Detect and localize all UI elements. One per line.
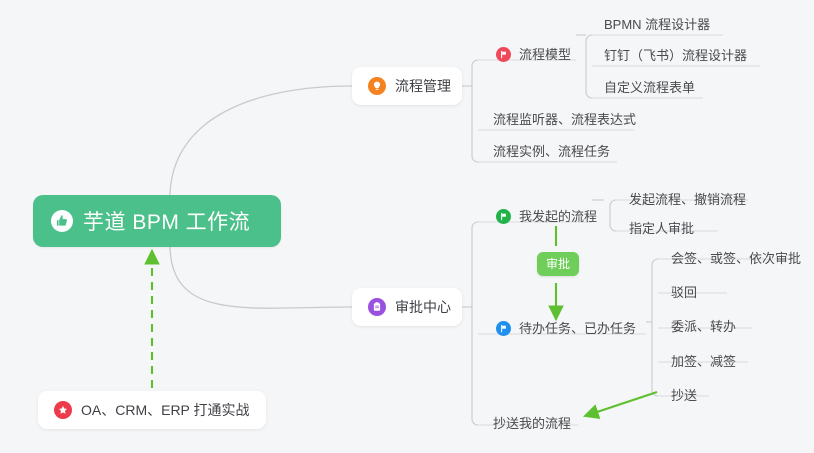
flag-blue-icon	[496, 321, 511, 336]
star-icon	[54, 401, 72, 419]
branch-node-process-management[interactable]: 流程管理	[352, 67, 462, 105]
connector-process-management-spine	[472, 60, 478, 162]
lightbulb-icon	[368, 77, 386, 95]
flag-red-icon	[496, 47, 511, 62]
topic-start-cancel-process[interactable]: 发起流程、撤销流程	[625, 185, 750, 213]
branch-label-approval-center: 审批中心	[395, 297, 451, 317]
floating-node-integration[interactable]: OA、CRM、ERP 打通实战	[38, 391, 266, 429]
flow-tag-approval[interactable]: 审批	[537, 252, 579, 276]
topic-label-carbon-copy: 抄送	[671, 389, 697, 402]
root-node[interactable]: 芋道 BPM 工作流	[33, 195, 281, 247]
topic-label-process-listener-expression: 流程监听器、流程表达式	[493, 113, 636, 126]
topic-label-delegate-transfer: 委派、转办	[671, 320, 736, 333]
topic-process-listener-expression[interactable]: 流程监听器、流程表达式	[489, 105, 640, 133]
topic-my-started-process[interactable]: 我发起的流程	[492, 202, 601, 230]
topic-todo-done-task[interactable]: 待办任务、已办任务	[492, 314, 640, 342]
topic-dingtalk-feishu-designer[interactable]: 钉钉（飞书）流程设计器	[600, 41, 751, 69]
mindmap-canvas: 芋道 BPM 工作流 流程管理 流程模型 BPMN 流程设计器 钉钉（飞书）流程…	[0, 0, 814, 453]
topic-label-reject: 驳回	[671, 286, 697, 299]
topic-add-remove-sign[interactable]: 加签、减签	[667, 347, 740, 375]
topic-process-instance-task[interactable]: 流程实例、流程任务	[489, 137, 614, 165]
topic-bpmn-designer[interactable]: BPMN 流程设计器	[600, 10, 714, 38]
connector-todo-spine	[652, 259, 658, 396]
flag-green-icon	[496, 209, 511, 224]
connector-root-to-process-management	[170, 86, 352, 195]
flow-arrow-carbon-copy	[588, 392, 657, 415]
clipboard-icon	[368, 298, 386, 316]
topic-assignee-approval[interactable]: 指定人审批	[625, 214, 698, 242]
topic-label-custom-process-form: 自定义流程表单	[604, 81, 695, 94]
topic-label-my-started-process: 我发起的流程	[519, 210, 597, 223]
topic-label-process-instance-task: 流程实例、流程任务	[493, 145, 610, 158]
topic-label-assignee-approval: 指定人审批	[629, 222, 694, 235]
topic-countersign-orsign-sequential[interactable]: 会签、或签、依次审批	[667, 244, 805, 272]
topic-label-process-model: 流程模型	[519, 48, 571, 61]
floating-label-integration: OA、CRM、ERP 打通实战	[81, 400, 250, 420]
topic-process-model[interactable]: 流程模型	[492, 40, 575, 68]
connector-approval-center-spine	[472, 222, 478, 425]
topic-delegate-transfer[interactable]: 委派、转办	[667, 312, 740, 340]
connector-process-model-spine	[586, 35, 592, 98]
topic-carbon-copy[interactable]: 抄送	[667, 381, 701, 409]
thumbs-up-icon	[51, 210, 73, 232]
topic-label-dingtalk-feishu-designer: 钉钉（飞书）流程设计器	[604, 49, 747, 62]
topic-label-bpmn-designer: BPMN 流程设计器	[604, 18, 710, 31]
topic-label-cc-to-me-process: 抄送我的流程	[493, 417, 571, 430]
topic-label-countersign-orsign-sequential: 会签、或签、依次审批	[671, 252, 801, 265]
connector-my-started-spine	[610, 200, 616, 231]
root-label: 芋道 BPM 工作流	[83, 206, 250, 236]
topic-custom-process-form[interactable]: 自定义流程表单	[600, 73, 699, 101]
connector-root-to-approval-center	[170, 247, 352, 308]
topic-reject[interactable]: 驳回	[667, 278, 701, 306]
branch-label-process-management: 流程管理	[395, 76, 451, 96]
topic-label-start-cancel-process: 发起流程、撤销流程	[629, 193, 746, 206]
topic-cc-to-me-process[interactable]: 抄送我的流程	[489, 409, 575, 437]
branch-node-approval-center[interactable]: 审批中心	[352, 288, 462, 326]
topic-label-todo-done-task: 待办任务、已办任务	[519, 322, 636, 335]
topic-label-add-remove-sign: 加签、减签	[671, 355, 736, 368]
